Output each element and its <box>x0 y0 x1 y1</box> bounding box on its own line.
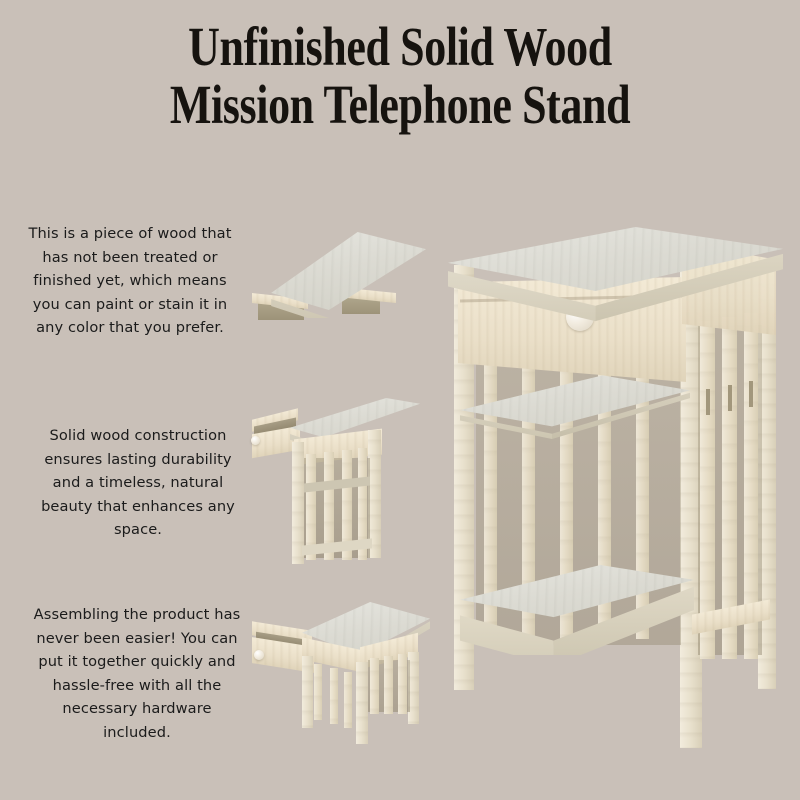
thumb3-leg-left <box>302 656 313 728</box>
thumb2-drawer-knob <box>251 436 260 445</box>
thumb3-drawer-knob <box>254 650 264 660</box>
thumb3-leg-front <box>356 662 368 744</box>
side-slat-peg-3 <box>749 381 753 407</box>
title-line-2: Mission Telephone Stand <box>80 76 720 134</box>
side-slat-peg-1 <box>706 389 710 415</box>
main-product-image <box>430 225 785 745</box>
thumb3-slat-2 <box>384 656 393 714</box>
side-slat-1 <box>700 321 715 659</box>
infographic-canvas: Unfinished Solid Wood Mission Telephone … <box>0 0 800 800</box>
product-thumbnail-angled-view <box>252 598 432 750</box>
thumb3-slat-5 <box>330 668 338 724</box>
thumb3-slat-1 <box>370 658 379 714</box>
thumb3-slat-4 <box>314 664 322 720</box>
feature-text-easy-assembly: Assembling the product has never been ea… <box>32 603 242 744</box>
page-title: Unfinished Solid Wood Mission Telephone … <box>80 18 720 134</box>
product-thumbnail-side-view <box>252 392 420 570</box>
feature-text-unfinished: This is a piece of wood that has not bee… <box>22 222 238 340</box>
product-thumbnail-tabletop <box>246 226 426 344</box>
feature-text-solid-wood: Solid wood construction ensures lasting … <box>38 424 238 542</box>
side-slat-peg-2 <box>728 385 732 411</box>
title-line-1: Unfinished Solid Wood <box>80 18 720 76</box>
thumb3-slat-6 <box>344 672 352 728</box>
thumb3-slat-3 <box>398 654 407 714</box>
